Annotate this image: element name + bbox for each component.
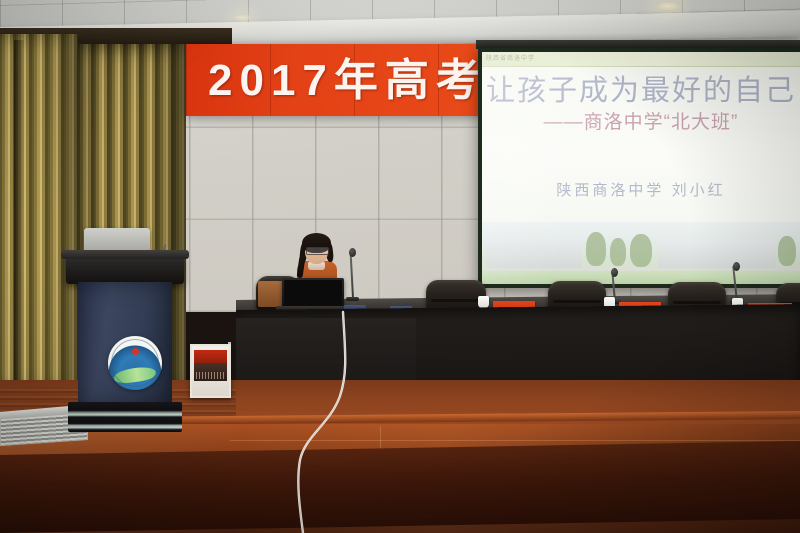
microphone-head-1 xyxy=(349,248,356,257)
campus-building-left xyxy=(486,238,582,268)
banner-text-left: 2017年高考 xyxy=(208,48,487,114)
school-crest-icon xyxy=(108,336,162,390)
poster-image xyxy=(194,363,227,381)
slide-title: 让孩子成为最好的自己 xyxy=(482,70,800,110)
presenter-glasses xyxy=(306,247,329,255)
microphone-base-1 xyxy=(346,297,359,301)
poster-title-band xyxy=(194,350,227,363)
lectern-body xyxy=(78,282,172,406)
slide-subtitle: ——商洛中学“北大班” xyxy=(482,110,800,136)
photo-scene: 2017年高考 总结 陕西省商洛中学 让孩子成为最好的自己 ——商洛中学“北大班… xyxy=(0,0,800,533)
apple-logo-icon xyxy=(112,237,122,249)
microphone-head-3 xyxy=(733,262,740,271)
projection-screen: 陕西省商洛中学 让孩子成为最好的自己 ——商洛中学“北大班” 陕西商洛中学 刘小… xyxy=(482,52,800,284)
framed-group-photo xyxy=(190,344,231,398)
slide-header-bar: 陕西省商洛中学 xyxy=(482,52,800,67)
campus-tree-3 xyxy=(630,234,652,267)
ceiling-light-secondary xyxy=(232,14,252,21)
crest-red-dot xyxy=(132,348,139,355)
lectern-top xyxy=(66,254,184,284)
lectern xyxy=(66,254,184,430)
curtain-fold-shadow xyxy=(14,40,24,392)
slide-presenter-name: 陕西商洛中学 刘小红 xyxy=(482,180,800,202)
floor-seam-1 xyxy=(230,440,800,441)
presenter-laptop-screen xyxy=(282,278,344,308)
stage-front-face xyxy=(0,441,800,533)
campus-tree-2 xyxy=(610,238,626,266)
slide-header-text: 陕西省商洛中学 xyxy=(486,53,535,62)
campus-lawn xyxy=(482,271,800,284)
ceiling-light xyxy=(655,1,681,11)
campus-tree-4 xyxy=(778,236,796,266)
lectern-base xyxy=(68,402,182,432)
microphone-head-2 xyxy=(611,268,618,277)
slide-campus-photo xyxy=(482,222,800,284)
crest-ring xyxy=(111,339,159,387)
floor-seam-2 xyxy=(380,426,381,450)
cup-1 xyxy=(478,296,489,308)
campus-tree-1 xyxy=(586,232,606,266)
campus-building-right xyxy=(658,240,776,268)
